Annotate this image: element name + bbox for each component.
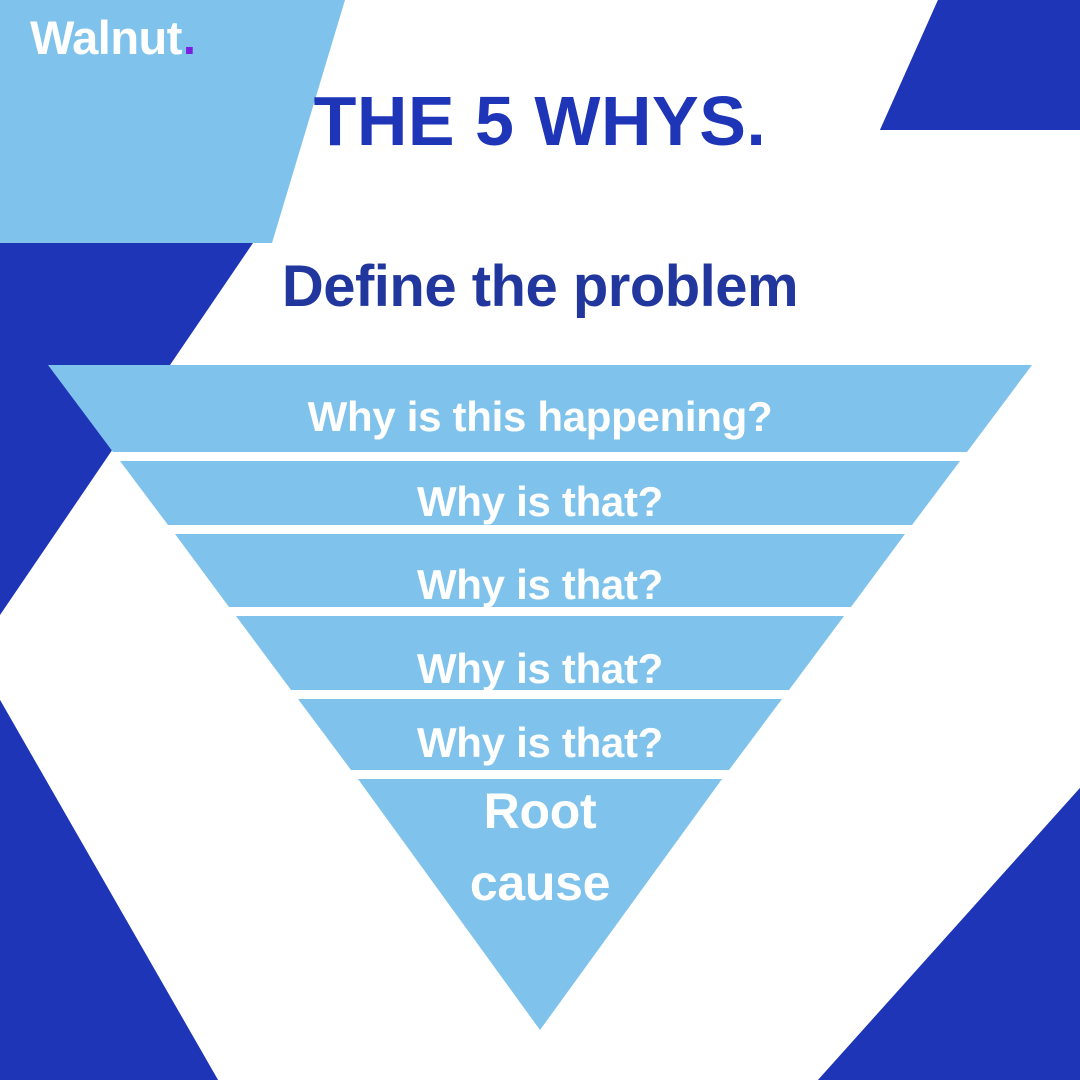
logo-dot-icon: . [183,14,196,61]
brand-logo[interactable]: Walnut . [30,14,196,61]
five-whys-funnel [0,0,1080,1080]
funnel-step-label-1: Why is this happening? [0,396,1080,438]
funnel-root-cause-label-line2: cause [0,858,1080,908]
funnel-step-label-3: Why is that? [0,564,1080,606]
funnel-root-cause-label-line1: Root [0,786,1080,836]
funnel-step-label-4: Why is that? [0,648,1080,690]
infographic-canvas: Walnut . THE 5 WHYS. Define the problem … [0,0,1080,1080]
page-title: THE 5 WHYS. [0,86,1080,156]
funnel-step-label-2: Why is that? [0,481,1080,523]
logo-wordmark: Walnut [30,14,182,61]
funnel-step-label-5: Why is that? [0,722,1080,764]
page-subtitle: Define the problem [0,258,1080,316]
